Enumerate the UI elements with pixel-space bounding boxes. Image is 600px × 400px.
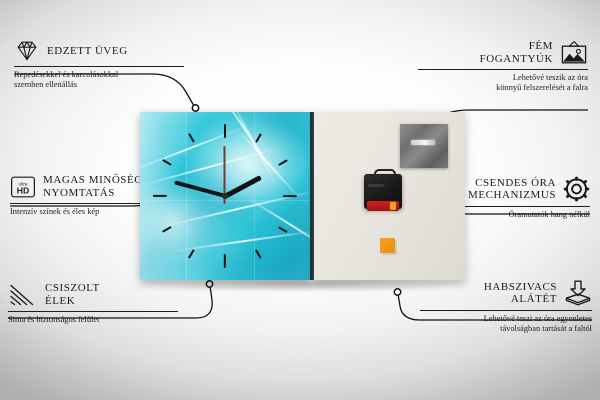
- feature-title-stack: FÉM FOGANTYÚK: [480, 40, 553, 65]
- feature-title-line1: HABSZIVACS: [484, 281, 557, 294]
- mechanism-slot: [368, 184, 384, 187]
- feature-title-stack: MAGAS MINŐSÉGŰ NYOMTATÁS: [43, 174, 151, 199]
- feature-description: Repedésekkel és karcolásokkal szemben el…: [14, 70, 184, 91]
- mechanism-body: [364, 174, 402, 209]
- hand-cap: [222, 193, 228, 199]
- hour-tick-8: [162, 195, 225, 233]
- feature-title-line2: ÉLEK: [45, 295, 100, 308]
- feature-title-line2: NYOMTATÁS: [43, 187, 151, 200]
- feather-streak: [140, 147, 282, 188]
- divider-rule: [14, 66, 184, 67]
- clock-mechanism: [364, 169, 402, 209]
- feather-streak: [140, 127, 244, 171]
- diamond-icon: [14, 40, 40, 62]
- feature-title-line2: MECHANIZMUS: [468, 189, 556, 202]
- feature-description: Lehetővé teszi az óra egyenletes távolsá…: [420, 314, 592, 335]
- print-pane: [140, 112, 186, 156]
- hour-tick-6: [224, 196, 226, 268]
- divider-rule: [420, 310, 592, 311]
- feature-title: EDZETT ÜVEG: [47, 45, 128, 58]
- feature-description: Sima és biztonságos felület: [8, 315, 178, 325]
- feature-title-line1: MAGAS MINŐSÉGŰ: [43, 174, 151, 187]
- metal-hanger-plate: [400, 124, 448, 168]
- foam-pad-icon: [564, 280, 592, 306]
- ultra-hd-icon: ultra HD: [10, 175, 36, 199]
- feature-tempered-glass: EDZETT ÜVEG Repedésekkel és karcolásokka…: [14, 40, 184, 91]
- divider-rule: [418, 69, 588, 70]
- product-image: [140, 112, 465, 280]
- hatched-edge-icon: [8, 283, 38, 307]
- feature-title-line1: FÉM: [480, 40, 553, 53]
- clock-front-face: [140, 112, 310, 280]
- svg-text:HD: HD: [17, 185, 29, 195]
- feature-title-line2: ALÁTÉT: [484, 293, 557, 306]
- feature-title-stack: HABSZIVACS ALÁTÉT: [484, 281, 557, 306]
- feather-streak: [171, 230, 310, 252]
- feature-header: FÉM FOGANTYÚK: [418, 40, 588, 65]
- infographic-canvas: EDZETT ÜVEG Repedésekkel és karcolásokka…: [0, 0, 600, 400]
- feature-description: Lehetővé teszik az óra könnyű felszerelé…: [418, 73, 588, 94]
- feature-title-stack: CSENDES ÓRA MECHANIZMUS: [468, 177, 556, 202]
- hour-tick-9: [153, 195, 225, 197]
- feature-title-line1: CSENDES ÓRA: [468, 177, 556, 190]
- wire-dot-tempered-glass: [192, 105, 198, 111]
- feature-title-line1: CSISZOLT: [45, 282, 100, 295]
- feature-metal-handles: FÉM FOGANTYÚK Lehetővé teszik az óra kön…: [418, 40, 588, 94]
- feature-header: EDZETT ÜVEG: [14, 40, 184, 62]
- battery: [367, 201, 399, 211]
- orange-foam-pad: [380, 238, 395, 253]
- clock-back-panel: [314, 112, 465, 280]
- feature-title-stack: CSISZOLT ÉLEK: [45, 282, 100, 307]
- divider-rule: [8, 311, 178, 312]
- feature-title-line2: FOGANTYÚK: [480, 53, 553, 66]
- picture-hanger-icon: [560, 40, 588, 65]
- hour-tick-3: [225, 195, 297, 197]
- gear-icon: [563, 176, 590, 202]
